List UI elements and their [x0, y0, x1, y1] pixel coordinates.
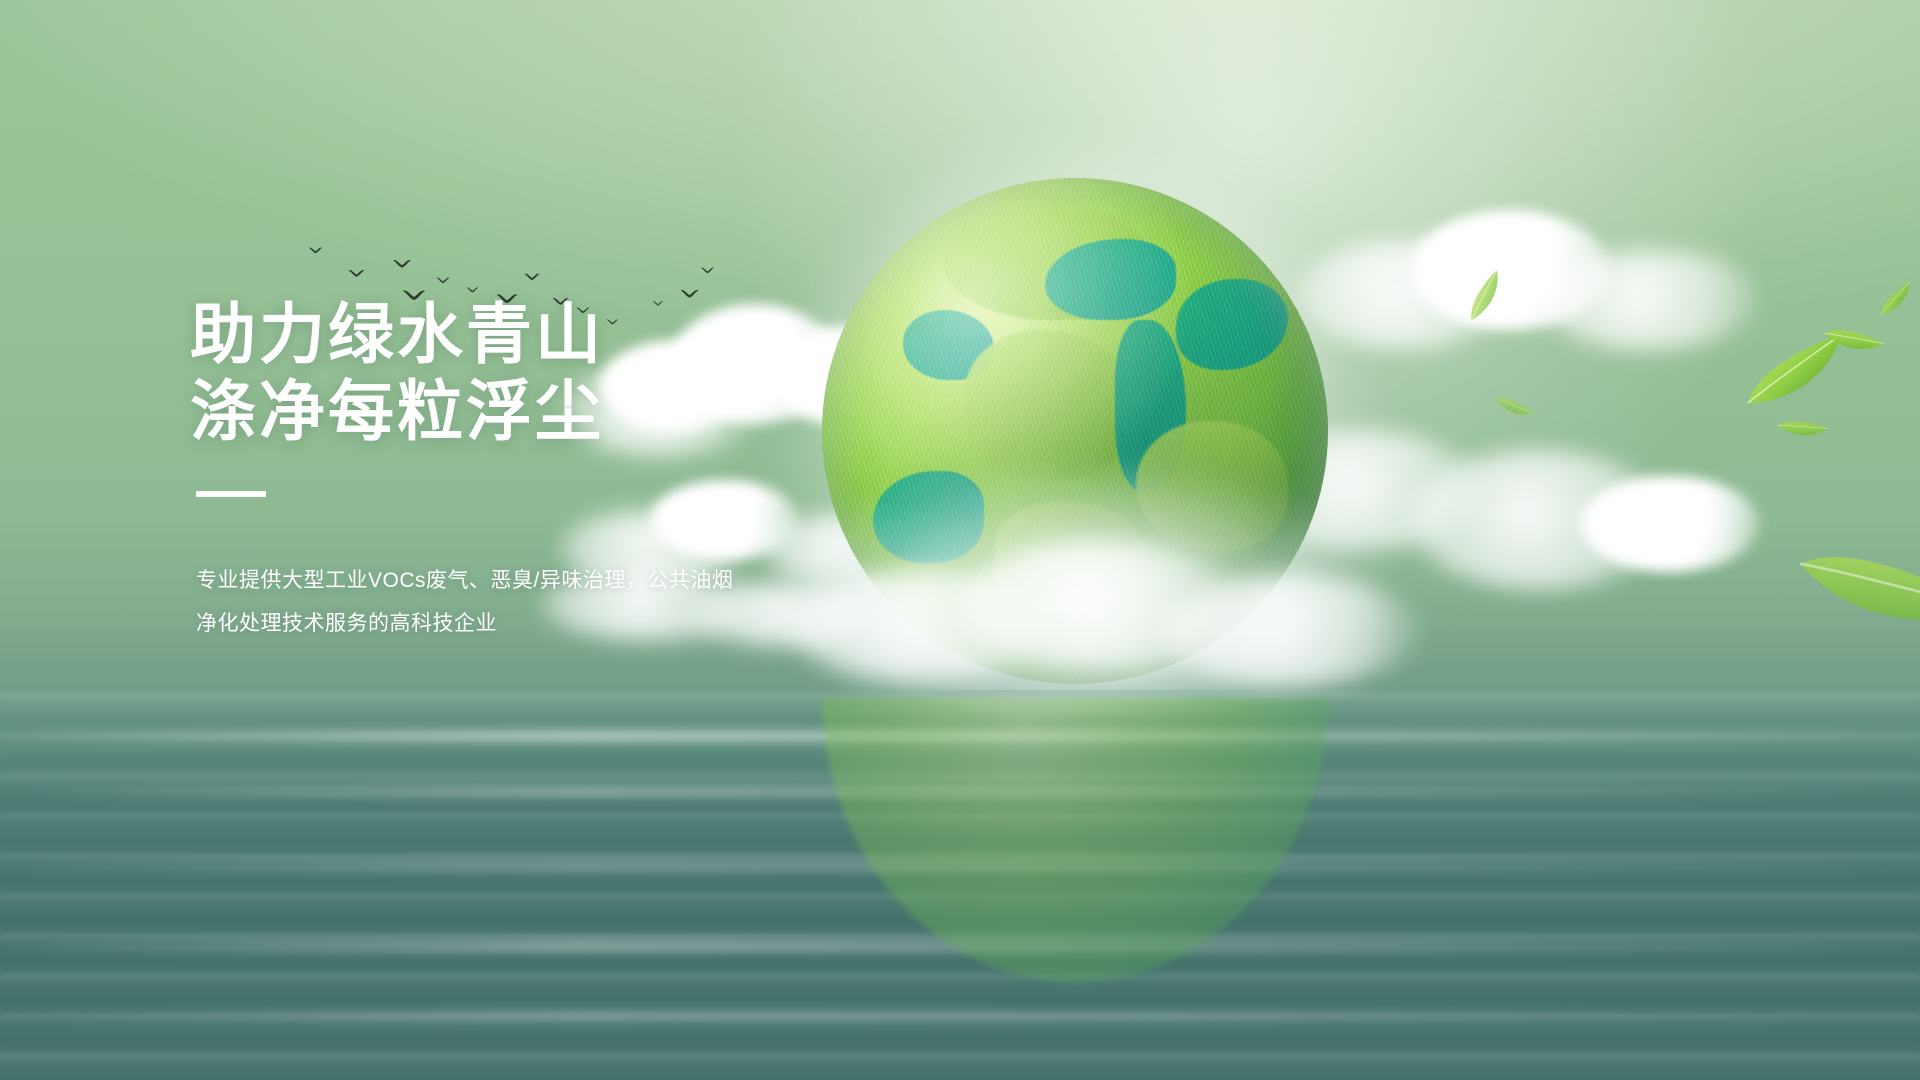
- bird-icon: [700, 266, 715, 275]
- green-earth-globe: [822, 178, 1328, 684]
- bird-icon: [392, 258, 412, 270]
- bird-icon: [466, 286, 479, 294]
- hero-copy: 助力绿水青山 涤净每粒浮尘 专业提供大型工业VOCs废气、恶臭/异味治理，公共油…: [190, 296, 890, 645]
- bird-icon: [524, 272, 540, 282]
- headline-divider: [196, 491, 266, 497]
- headline-line-2: 涤净每粒浮尘: [190, 373, 890, 450]
- hero-banner: 助力绿水青山 涤净每粒浮尘 专业提供大型工业VOCs废气、恶臭/异味治理，公共油…: [0, 0, 1920, 1080]
- hero-subtitle: 专业提供大型工业VOCs废气、恶臭/异味治理，公共油烟净化处理技术服务的高科技企…: [196, 559, 736, 645]
- bird-icon: [308, 246, 323, 255]
- bird-icon: [348, 268, 365, 279]
- headline-line-1: 助力绿水青山: [190, 296, 890, 373]
- bird-icon: [436, 276, 450, 285]
